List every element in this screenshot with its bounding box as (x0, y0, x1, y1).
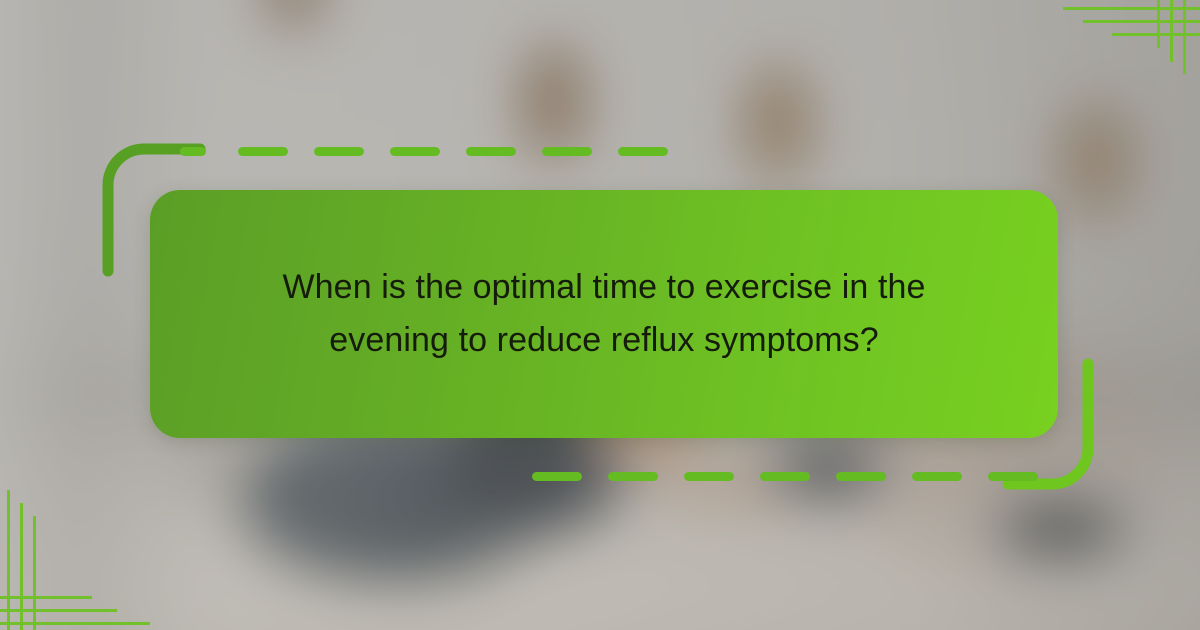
question-text: When is the optimal time to exercise in … (234, 261, 974, 366)
top-dashed-rule-lead (180, 147, 226, 156)
grid-line-horizontal (1063, 7, 1200, 10)
top-dashed-rule (238, 147, 678, 156)
dash-segment (314, 147, 364, 156)
dash-segment (684, 472, 734, 481)
dash-segment (988, 472, 1038, 481)
dash-segment (532, 472, 582, 481)
dash-segment (238, 147, 288, 156)
question-card: When is the optimal time to exercise in … (150, 190, 1058, 438)
grid-line-horizontal (0, 609, 117, 612)
dash-segment (390, 147, 440, 156)
dash-segment (912, 472, 962, 481)
grid-line-horizontal (0, 596, 92, 599)
dash-segment (608, 472, 658, 481)
bottom-dashed-rule (532, 472, 992, 481)
grid-line-vertical (1183, 0, 1186, 74)
dash-segment (542, 147, 592, 156)
dash-segment (760, 472, 810, 481)
grid-line-horizontal (1112, 33, 1200, 36)
question-card-graphic: When is the optimal time to exercise in … (0, 0, 1200, 630)
grid-line-vertical (33, 516, 36, 630)
grid-line-horizontal (0, 622, 150, 625)
dash-segment (180, 147, 206, 156)
grid-line-vertical (1170, 0, 1173, 62)
dash-segment (836, 472, 886, 481)
dash-segment (618, 147, 668, 156)
grid-line-vertical (1157, 0, 1160, 48)
dash-segment (466, 147, 516, 156)
